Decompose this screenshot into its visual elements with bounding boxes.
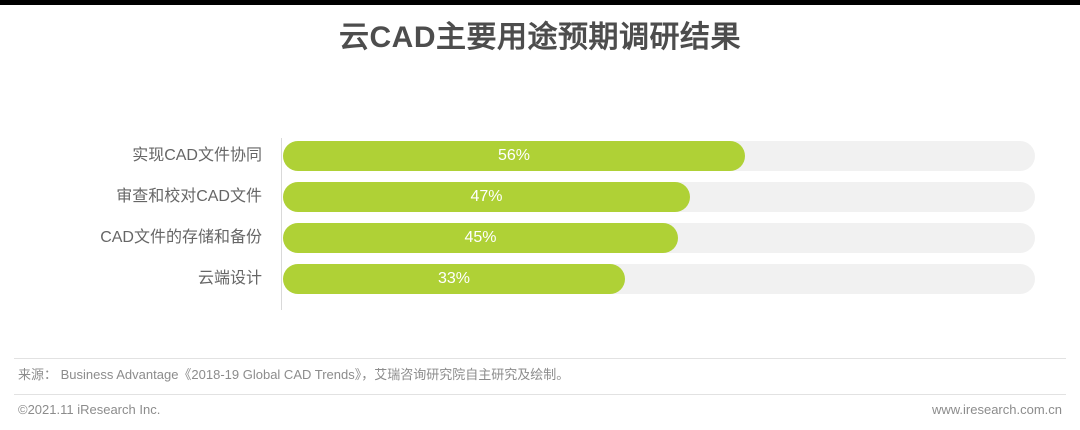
source-note: 来源： Business Advantage《2018-19 Global CA… (18, 364, 569, 383)
chart-plot-area: 实现CAD文件协同 56% 审查和校对CAD文件 47% CAD文件的存储和备份… (0, 130, 1080, 310)
website-link[interactable]: www.iresearch.com.cn (932, 402, 1062, 417)
table-row: CAD文件的存储和备份 45% (0, 223, 1080, 253)
bar-track: 47% (283, 182, 1035, 212)
bar-value-label: 33% (283, 264, 625, 294)
table-row: 云端设计 33% (0, 264, 1080, 294)
bar-track: 33% (283, 264, 1035, 294)
bar-category-label: 云端设计 (0, 264, 262, 294)
bar-category-label: 实现CAD文件协同 (0, 141, 262, 171)
bar-value-label: 47% (283, 182, 690, 212)
footer-divider-top (14, 358, 1066, 359)
copyright-text: ©2021.11 iResearch Inc. (18, 402, 160, 417)
bar-track: 56% (283, 141, 1035, 171)
page-title: 云CAD主要用途预期调研结果 (0, 16, 1080, 60)
footer-divider-bottom (14, 394, 1066, 395)
top-accent-band (0, 0, 1080, 5)
bar-track: 45% (283, 223, 1035, 253)
table-row: 实现CAD文件协同 56% (0, 141, 1080, 171)
bar-category-label: CAD文件的存储和备份 (0, 223, 262, 253)
table-row: 审查和校对CAD文件 47% (0, 182, 1080, 212)
bar-category-label: 审查和校对CAD文件 (0, 182, 262, 212)
bar-value-label: 56% (283, 141, 745, 171)
bar-value-label: 45% (283, 223, 678, 253)
